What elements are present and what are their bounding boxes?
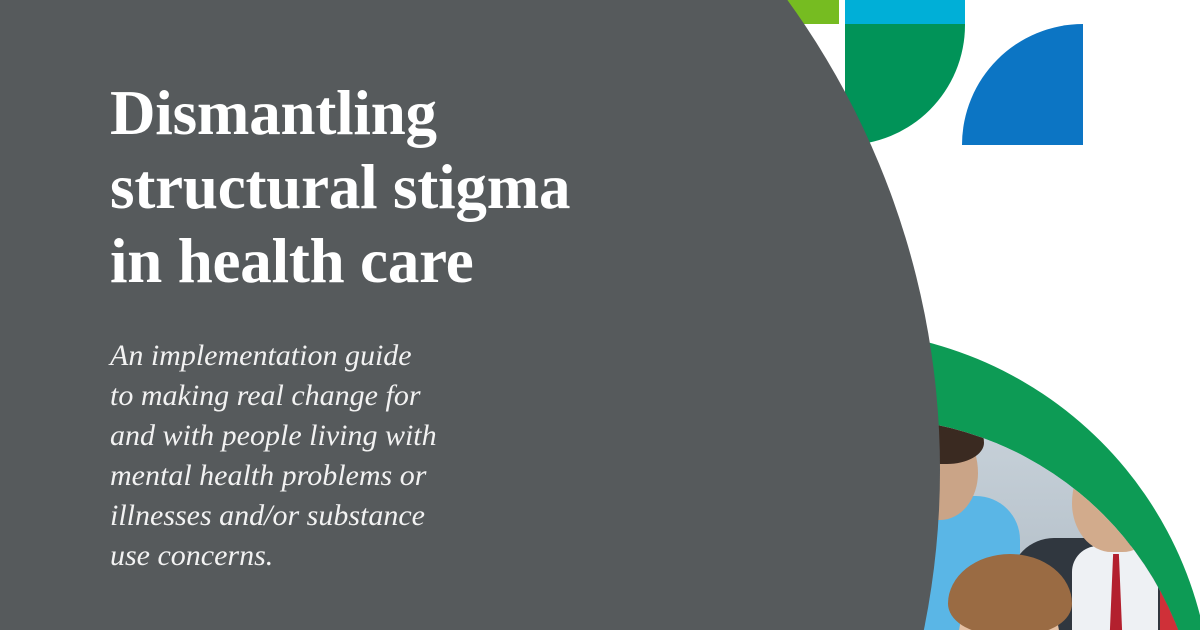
title-line-2: structural stigma — [110, 150, 710, 224]
title-line-1: Dismantling — [110, 76, 710, 150]
subtitle-line-1: An implementation guide — [110, 336, 530, 376]
subtitle-line-5: illnesses and/or substance — [110, 496, 530, 536]
page-subtitle: An implementation guide to making real c… — [110, 336, 530, 576]
title-line-3: in health care — [110, 224, 710, 298]
subtitle-line-4: mental health problems or — [110, 456, 530, 496]
subtitle-line-2: to making real change for — [110, 376, 530, 416]
cyan-bar-shape — [845, 0, 965, 24]
page-title: Dismantling structural stigma in health … — [110, 76, 710, 298]
subtitle-line-6: use concerns. — [110, 536, 530, 576]
subtitle-line-3: and with people living with — [110, 416, 530, 456]
report-cover: Dismantling structural stigma in health … — [0, 0, 1200, 630]
